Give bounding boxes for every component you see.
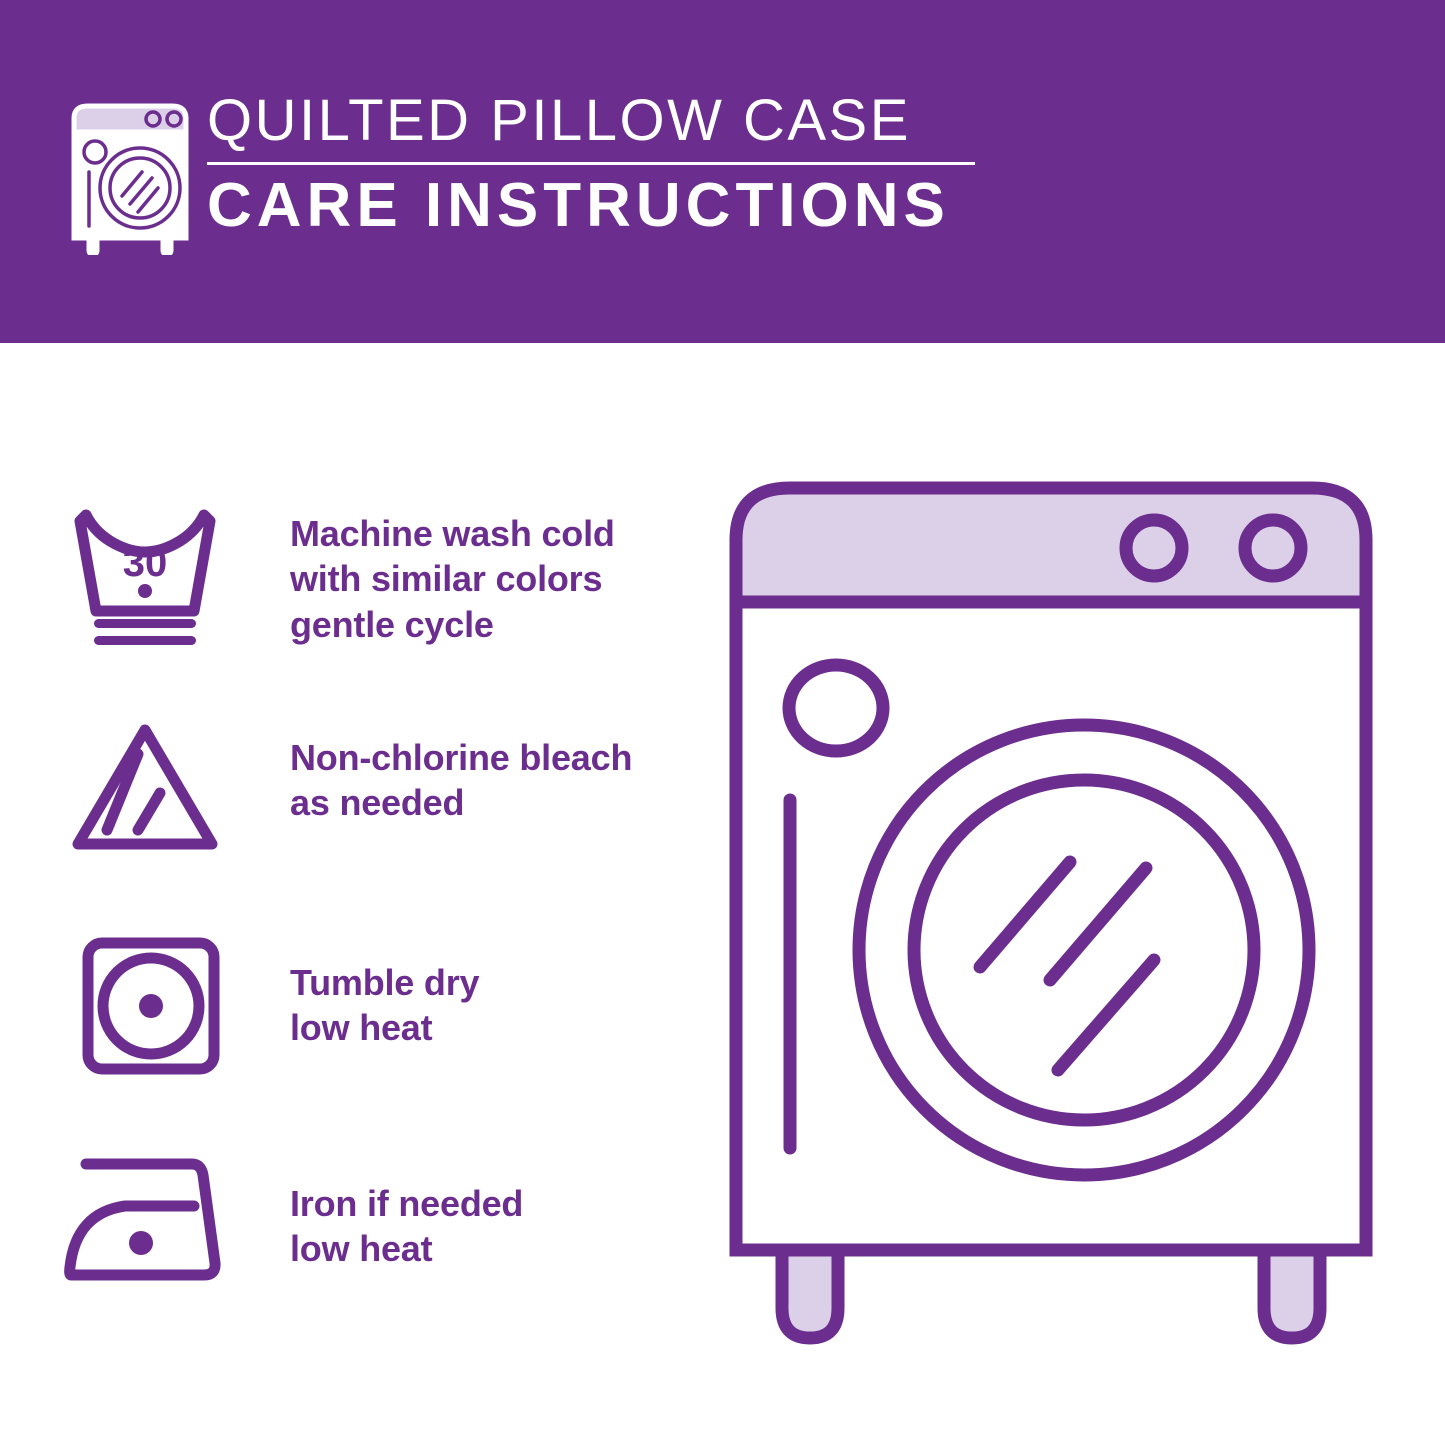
non-chlorine-bleach-triangle-icon — [55, 718, 235, 858]
washing-machine-illustration — [718, 470, 1418, 1370]
tumble-dry-low-heat-icon — [55, 935, 235, 1080]
knob-right — [1245, 520, 1301, 576]
instruction-text-iron: Iron if needed low heat — [290, 1181, 523, 1272]
instruction-text-bleach: Non-chlorine bleach as needed — [290, 735, 632, 826]
knob-left — [1126, 520, 1182, 576]
instruction-line: as needed — [290, 780, 632, 825]
leg-left — [782, 1250, 838, 1338]
product-title: QUILTED PILLOW CASE — [207, 92, 997, 150]
instruction-line: low heat — [290, 1005, 479, 1050]
title-divider — [207, 162, 975, 165]
instruction-line: with similar colors — [290, 556, 615, 601]
instruction-line: Machine wash cold — [290, 511, 615, 556]
page-title: CARE INSTRUCTIONS — [207, 175, 997, 237]
instruction-line: low heat — [290, 1226, 523, 1271]
header-banner: QUILTED PILLOW CASE CARE INSTRUCTIONS — [0, 0, 1445, 343]
instruction-text-wash: Machine wash cold with similar colors ge… — [290, 511, 615, 647]
washing-machine-icon — [60, 100, 200, 255]
instructions-list: 30 Machine wash cold with similar colors… — [0, 343, 700, 1445]
instruction-line: Non-chlorine bleach — [290, 735, 632, 780]
instruction-line: gentle cycle — [290, 602, 615, 647]
header-title-group: QUILTED PILLOW CASE CARE INSTRUCTIONS — [207, 92, 997, 237]
care-instructions-page: QUILTED PILLOW CASE CARE INSTRUCTIONS 30… — [0, 0, 1445, 1445]
instruction-line: Iron if needed — [290, 1181, 523, 1226]
instruction-text-dry: Tumble dry low heat — [290, 960, 479, 1051]
leg-right — [1264, 1250, 1320, 1338]
wash-temp-value: 30 — [123, 541, 168, 585]
iron-low-heat-icon — [50, 1151, 230, 1291]
machine-wash-30-gentle-icon: 30 — [55, 503, 235, 653]
instruction-line: Tumble dry — [290, 960, 479, 1005]
